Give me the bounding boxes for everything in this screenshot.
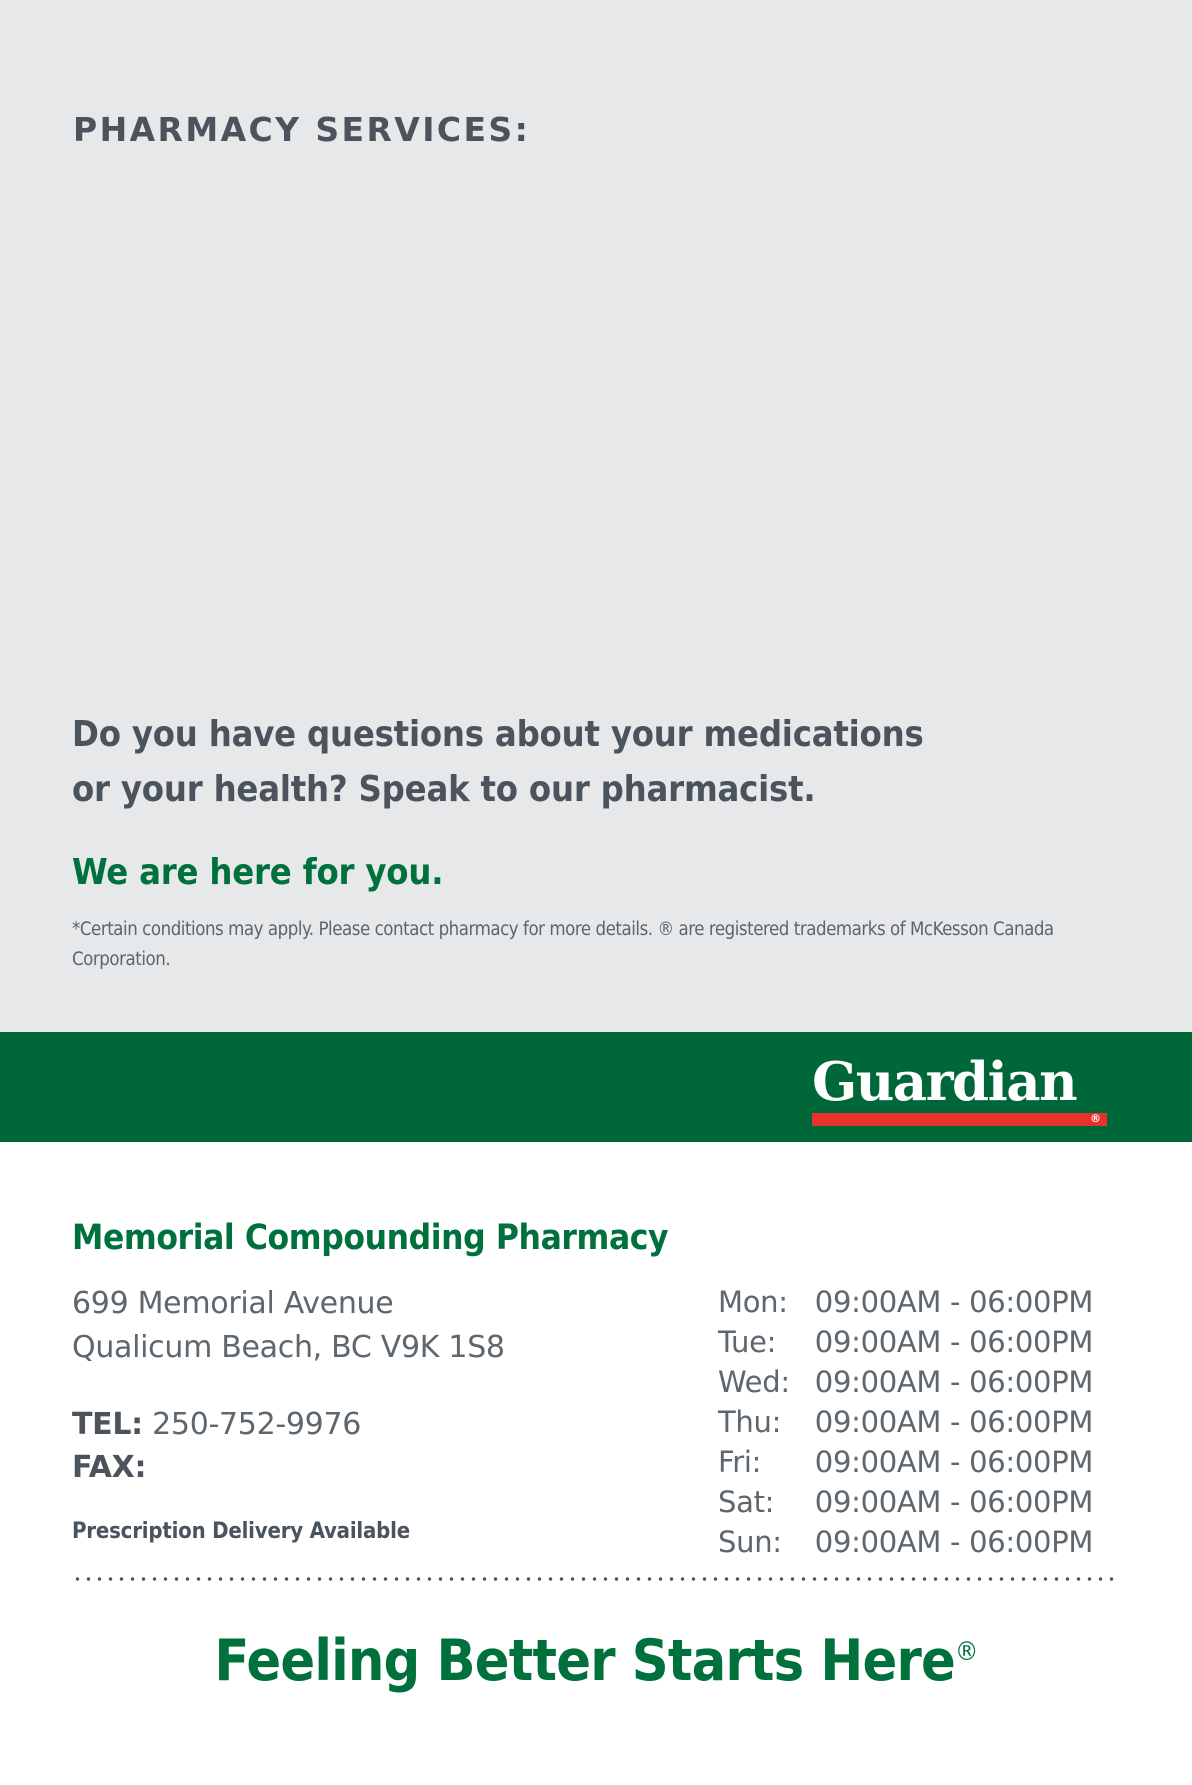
store-hours-table: Mon: 09:00AM - 06:00PM Tue: 09:00AM - 06… [718,1282,1093,1562]
hours-time-value: 09:00AM - 06:00PM [815,1522,1093,1562]
footer-tagline-text: Feeling Better Starts Here [214,1628,955,1694]
pharmacy-services-panel: PHARMACY SERVICES: Do you have questions… [0,0,1192,1032]
hours-time-value: 09:00AM - 06:00PM [815,1402,1093,1442]
table-row: Sun: 09:00AM - 06:00PM [718,1522,1093,1562]
disclaimer-text: *Certain conditions may apply. Please co… [72,915,1072,975]
address-line-2: Qualicum Beach, BC V9K 1S8 [72,1326,612,1370]
hours-time-value: 09:00AM - 06:00PM [815,1322,1093,1362]
hours-day-label: Wed: [718,1362,815,1402]
hours-time-value: 09:00AM - 06:00PM [815,1482,1093,1522]
hours-day-label: Sun: [718,1522,815,1562]
hours-day-label: Thu: [718,1402,815,1442]
delivery-availability-note: Prescription Delivery Available [72,1519,612,1544]
store-contact-column: 699 Memorial Avenue Qualicum Beach, BC V… [72,1282,612,1544]
hours-time-value: 09:00AM - 06:00PM [815,1442,1093,1482]
table-row: Thu: 09:00AM - 06:00PM [718,1402,1093,1442]
store-hours-body: Mon: 09:00AM - 06:00PM Tue: 09:00AM - 06… [718,1282,1093,1562]
address-line-1: 699 Memorial Avenue [72,1282,612,1326]
table-row: Mon: 09:00AM - 06:00PM [718,1282,1093,1322]
hours-day-label: Sat: [718,1482,815,1522]
registered-trademark-icon: ® [955,1637,978,1667]
table-row: Wed: 09:00AM - 06:00PM [718,1362,1093,1402]
table-row: Sat: 09:00AM - 06:00PM [718,1482,1093,1522]
registered-trademark-icon: ® [1090,1112,1101,1125]
guardian-logo: Guardian ® [812,1054,1107,1126]
telephone-row: TEL: 250-752-9976 [72,1403,612,1446]
fax-label: FAX: [72,1450,146,1485]
hours-day-label: Mon: [718,1282,815,1322]
table-row: Fri: 09:00AM - 06:00PM [718,1442,1093,1482]
question-line-2: or your health? Speak to our pharmacist. [72,762,1032,817]
phone-fax-block: TEL: 250-752-9976 FAX: [72,1403,612,1489]
hours-day-label: Tue: [718,1322,815,1362]
section-divider [72,1576,1120,1582]
footer-tagline: Feeling Better Starts Here® [0,1628,1192,1694]
page-title: PHARMACY SERVICES: [73,110,530,149]
table-row: Tue: 09:00AM - 06:00PM [718,1322,1093,1362]
question-line-1: Do you have questions about your medicat… [72,707,1032,762]
telephone-label: TEL: [72,1407,143,1442]
guardian-logo-underline: ® [812,1113,1107,1126]
hours-day-label: Fri: [718,1442,815,1482]
telephone-value[interactable]: 250-752-9976 [152,1407,361,1442]
pharmacist-question-block: Do you have questions about your medicat… [72,707,1032,817]
fax-row: FAX: [72,1446,612,1489]
hours-time-value: 09:00AM - 06:00PM [815,1282,1093,1322]
call-to-action-text: We are here for you. [72,852,443,893]
store-name: Memorial Compounding Pharmacy [72,1218,668,1258]
guardian-logo-wordmark: Guardian [812,1054,1107,1111]
hours-time-value: 09:00AM - 06:00PM [815,1362,1093,1402]
brand-band: Guardian ® [0,1032,1192,1142]
